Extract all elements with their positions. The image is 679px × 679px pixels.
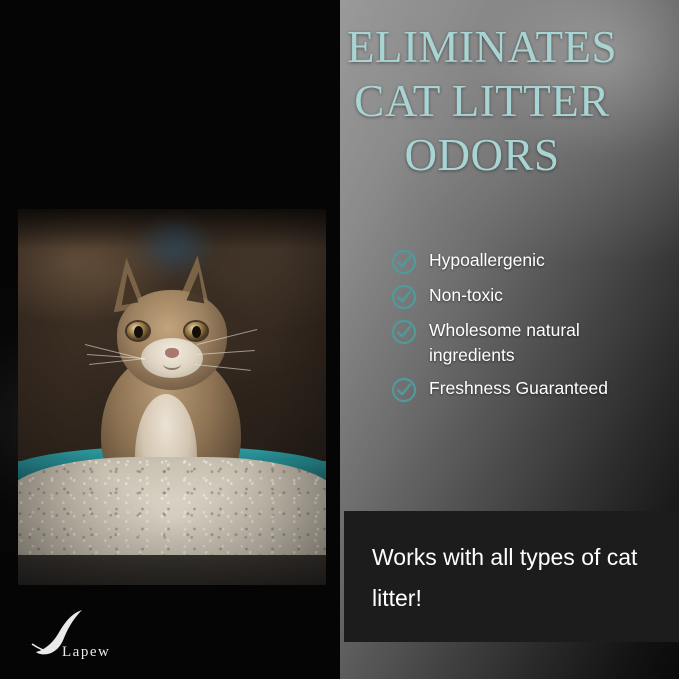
callout-text: Works with all types of cat litter! bbox=[372, 537, 662, 619]
brand-name: Lapew bbox=[62, 644, 110, 661]
product-infographic: ELIMINATES CAT LITTER ODORS bbox=[0, 0, 679, 679]
headline: ELIMINATES CAT LITTER ODORS bbox=[292, 20, 672, 182]
feature-label: Hypoallergenic bbox=[429, 248, 545, 273]
feature-label: Wholesome natural ingredients bbox=[429, 318, 664, 368]
callout-box: Works with all types of cat litter! bbox=[344, 511, 679, 642]
list-item: Hypoallergenic bbox=[391, 248, 676, 275]
check-circle-icon bbox=[391, 284, 417, 310]
check-circle-icon bbox=[391, 377, 417, 403]
list-item: Wholesome natural ingredients bbox=[391, 318, 676, 368]
feature-list: Hypoallergenic Non-toxic Wholesome natur… bbox=[391, 248, 676, 411]
headline-line-3: ODORS bbox=[292, 128, 672, 182]
list-item: Non-toxic bbox=[391, 283, 676, 310]
kitten-litter-box-photo bbox=[18, 209, 326, 585]
check-circle-icon bbox=[391, 249, 417, 275]
photo-vignette bbox=[18, 209, 326, 585]
headline-line-2: CAT LITTER bbox=[292, 74, 672, 128]
list-item: Freshness Guaranteed bbox=[391, 376, 676, 403]
feature-label: Non-toxic bbox=[429, 283, 503, 308]
brand-logo: Lapew bbox=[28, 604, 158, 664]
feature-label: Freshness Guaranteed bbox=[429, 376, 608, 401]
headline-line-1: ELIMINATES bbox=[292, 20, 672, 74]
check-circle-icon bbox=[391, 319, 417, 345]
